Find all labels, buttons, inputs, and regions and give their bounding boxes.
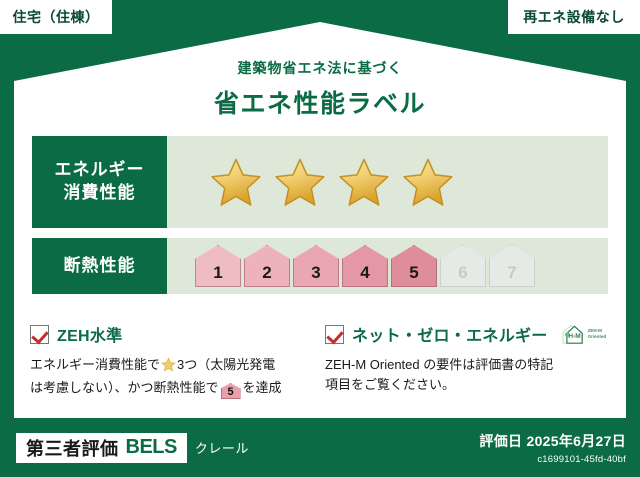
star-icon [337, 156, 391, 208]
grade-badge-value: 1 [213, 263, 222, 283]
bels-jp-label: 第三者評価 [26, 435, 119, 461]
grade-badge-7: 7 [489, 245, 535, 287]
energy-label-line1: エネルギー [55, 159, 145, 182]
net-zero-energy-note: ネット・ゼロ・エネルギー H-M ZEH-M Oriented ZEH-M Or… [325, 322, 615, 395]
grade-badge-1: 1 [195, 245, 241, 287]
grade-badge-value: 5 [409, 263, 418, 283]
zeh-standard-title: ZEH水準 [57, 322, 123, 346]
star-icon [273, 156, 327, 208]
energy-performance-row: エネルギー 消費性能 [32, 136, 608, 228]
star-icon [209, 156, 263, 208]
zeh-standard-body: エネルギー消費性能で 3つ（太陽光発電 は考慮しない）、かつ断熱性能で 5を達成 [30, 355, 320, 399]
label-title-block: 建築物省エネ法に基づく 省エネ性能ラベル [0, 58, 640, 120]
evaluation-info: 評価日 2025年6月27日 c1699101-45fd-40bf [479, 431, 626, 465]
insulation-performance-rating: 1234567 [167, 238, 608, 294]
star-rating [209, 156, 455, 208]
bels-certification-badge: 第三者評価 BELS [16, 433, 187, 463]
zeh-m-oriented-logo-icon: H-M ZEH-M Oriented [560, 322, 607, 346]
builder-name: クレール [195, 438, 249, 457]
zeh-standard-heading: ZEH水準 [30, 322, 320, 346]
grade-badge-value: 6 [458, 263, 467, 283]
zeh-body-part1: エネルギー消費性能で [30, 357, 160, 372]
check-icon [30, 325, 49, 344]
net-zero-title: ネット・ゼロ・エネルギー [352, 322, 548, 346]
net-zero-heading: ネット・ゼロ・エネルギー H-M ZEH-M Oriented [325, 322, 615, 346]
insulation-performance-label-cell: 断熱性能 [32, 238, 167, 294]
net-zero-body: ZEH-M Oriented の要件は評価書の特記 項目をご覧ください。 [325, 355, 615, 395]
grade-badge-4: 4 [342, 245, 388, 287]
star-icon [401, 156, 455, 208]
energy-performance-label-cell: エネルギー 消費性能 [32, 136, 167, 228]
svg-text:H-M: H-M [568, 333, 580, 340]
grade-badge-2: 2 [244, 245, 290, 287]
grade-badge-6: 6 [440, 245, 486, 287]
net-zero-body-line1: ZEH-M Oriented の要件は評価書の特記 [325, 357, 553, 372]
grade-badge-value: 2 [262, 263, 271, 283]
insulation-performance-row: 断熱性能 1234567 [32, 238, 608, 294]
energy-performance-rating [167, 136, 608, 228]
grade-badge-5: 5 [391, 245, 437, 287]
zeh-body-part3: は考慮しない）、かつ断熱性能で [30, 380, 219, 395]
grade-5-inline-badge: 5 [221, 383, 241, 399]
energy-performance-label: 住宅（住棟） 再エネ設備なし 建築物省エネ法に基づく 省エネ性能ラベル エネルギ… [0, 0, 640, 477]
label-footer: 第三者評価 BELS クレール 評価日 2025年6月27日 c1699101-… [0, 418, 640, 477]
grade-badge-3: 3 [293, 245, 339, 287]
bels-en-label: BELS [126, 436, 177, 459]
grade-badge-value: 3 [311, 263, 320, 283]
renewable-energy-badge: 再エネ設備なし [508, 0, 640, 34]
page-title: 省エネ性能ラベル [0, 84, 640, 120]
energy-label-line2: 消費性能 [64, 182, 136, 205]
star-icon [161, 357, 176, 378]
evaluation-date: 評価日 2025年6月27日 [479, 431, 626, 451]
grade-badge-value: 4 [360, 263, 369, 283]
zeh-standard-note: ZEH水準 エネルギー消費性能で 3つ（太陽光発電 は考慮しない）、かつ断熱性能… [30, 322, 320, 399]
zeh-body-part2: 3つ（太陽光発電 [177, 357, 275, 372]
grade-badge-value: 7 [507, 263, 516, 283]
zeh-m-logo-sub: ZEH-M Oriented [588, 328, 607, 339]
grade-scale: 1234567 [195, 245, 535, 287]
label-subtitle: 建築物省エネ法に基づく [0, 58, 640, 78]
net-zero-body-line2: 項目をご覧ください。 [325, 377, 455, 392]
evaluation-id: c1699101-45fd-40bf [479, 454, 626, 465]
insulation-label: 断熱性能 [64, 255, 136, 278]
zeh-body-part4: を達成 [243, 380, 282, 395]
check-icon [325, 325, 344, 344]
building-type-badge: 住宅（住棟） [0, 0, 112, 34]
